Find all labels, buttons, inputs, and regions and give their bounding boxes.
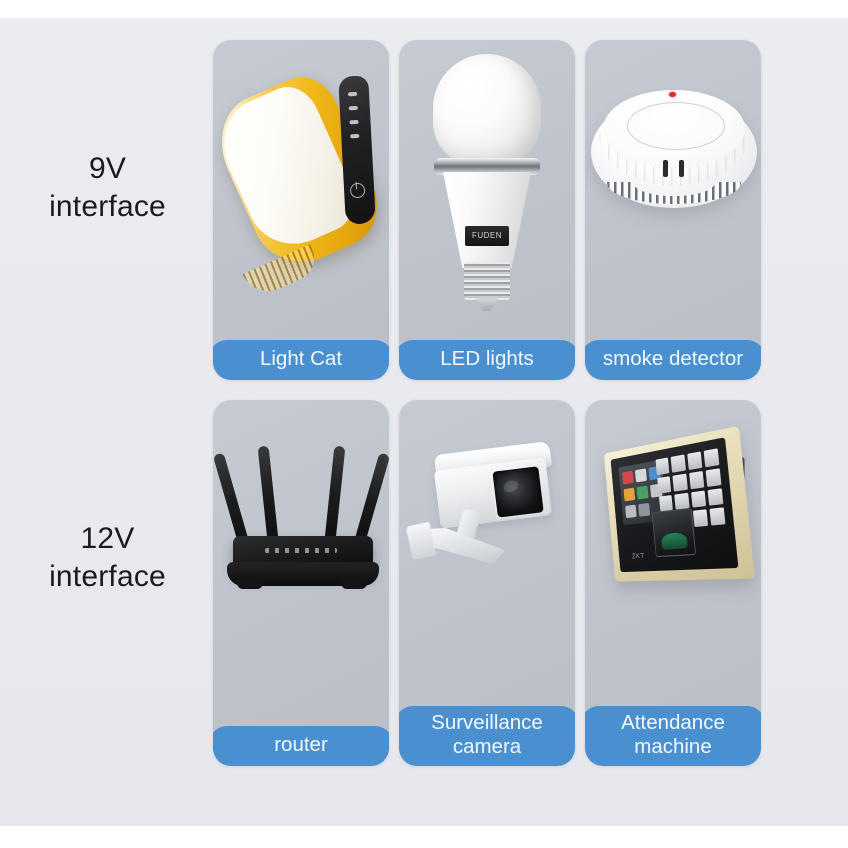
product-label-line: Light Cat (213, 347, 389, 371)
status-led-icon (669, 92, 676, 97)
product-label-line: machine (585, 735, 761, 759)
product-card-surveillance-camera[interactable]: Surveillance camera (399, 400, 575, 766)
camera-lens-plate (490, 460, 550, 520)
product-label-line: smoke detector (585, 347, 761, 371)
product-label-line: camera (399, 735, 575, 759)
row-label-12v: 12V interface (10, 520, 205, 596)
row-label-line-1: 9V (10, 150, 205, 188)
product-label-line: Surveillance (399, 711, 575, 735)
product-card-attendance-machine[interactable]: ZKT Attendance machine (585, 400, 761, 766)
terminal-front-panel: ZKT (611, 437, 739, 572)
fingerprint-scanner-icon[interactable] (652, 508, 697, 557)
row-label-9v: 9V interface (10, 150, 205, 226)
product-label-line: Attendance (585, 711, 761, 735)
light-cat-indicator-dot (348, 92, 357, 96)
keypad-key[interactable] (657, 476, 671, 493)
bulb-screw-base (464, 262, 510, 300)
keypad-key[interactable] (707, 488, 723, 506)
product-label-light-cat: Light Cat (213, 340, 389, 380)
light-cat-indicator-dot (349, 120, 358, 124)
camera-housing (434, 457, 552, 528)
terminal-frame: ZKT (604, 426, 755, 582)
router-antenna (258, 446, 280, 551)
product-image-smoke-detector: smoke detector (585, 40, 761, 380)
light-cat-indicator-dot (350, 134, 359, 138)
product-label-led-lights: LED lights (399, 340, 575, 380)
product-label-line: router (213, 733, 389, 757)
keypad-key[interactable] (705, 468, 721, 487)
smoke-detector-icon (591, 76, 757, 246)
bulb-body (443, 172, 531, 268)
product-label-line: LED lights (399, 347, 575, 371)
row-12v: 12V interface (0, 400, 848, 766)
product-label-smoke-detector: smoke detector (585, 340, 761, 380)
product-card-router[interactable]: router (213, 400, 389, 766)
smoke-detector-vents (607, 182, 741, 204)
router-antenna (324, 446, 346, 551)
row-label-line-1: 12V (10, 520, 205, 558)
product-image-light-cat: Light Cat (213, 40, 389, 380)
product-card-light-cat[interactable]: Light Cat (213, 40, 389, 380)
product-label-attendance-machine: Attendance machine (585, 706, 761, 766)
camera-wall-mount (406, 522, 437, 560)
row-9v: 9V interface (0, 40, 848, 380)
led-bulb-icon: FUDEN (427, 54, 547, 306)
power-icon (350, 183, 366, 199)
product-card-led-lights[interactable]: FUDEN LED lights (399, 40, 575, 380)
keypad-key[interactable] (655, 457, 669, 475)
product-image-router: router (213, 400, 389, 766)
keypad-key[interactable] (689, 471, 704, 489)
router-foot (237, 580, 263, 589)
infographic-canvas: 9V interface (0, 18, 848, 826)
attendance-terminal-icon: ZKT (591, 434, 757, 596)
row-label-line-2: interface (10, 188, 205, 226)
row-label-line-2: interface (10, 558, 205, 596)
bulb-contact-tip (475, 298, 499, 311)
light-cat-indicator-dot (349, 106, 358, 110)
keypad-key[interactable] (673, 473, 688, 491)
product-image-surveillance-camera: Surveillance camera (399, 400, 575, 766)
product-label-router: router (213, 726, 389, 766)
product-image-led-lights: FUDEN LED lights (399, 40, 575, 380)
product-compatibility-infographic: 9V interface (0, 0, 848, 848)
smoke-detector-slot (679, 160, 684, 177)
keypad-key[interactable] (692, 509, 708, 527)
terminal-logo: ZKT (632, 553, 645, 560)
keypad-key[interactable] (690, 490, 705, 508)
wifi-router-icon (219, 430, 385, 610)
keypad-key[interactable] (709, 508, 725, 526)
product-label-surveillance-camera: Surveillance camera (399, 706, 575, 766)
keypad-key[interactable] (671, 455, 686, 473)
bulb-dome (433, 54, 541, 166)
product-card-smoke-detector[interactable]: smoke detector (585, 40, 761, 380)
cctv-camera-icon (407, 432, 571, 596)
router-foot (341, 580, 367, 589)
light-cat-device-icon (227, 66, 377, 296)
bulb-brand-tag: FUDEN (465, 226, 509, 246)
smoke-detector-test-button (627, 102, 725, 150)
keypad-key[interactable] (687, 451, 702, 469)
keypad-key[interactable] (703, 448, 719, 467)
camera-lens-icon (492, 466, 543, 517)
router-status-leds (265, 548, 337, 553)
product-image-attendance-machine: ZKT Attendance machine (585, 400, 761, 766)
smoke-detector-slot (663, 160, 668, 177)
light-cat-control-strip (338, 75, 376, 224)
